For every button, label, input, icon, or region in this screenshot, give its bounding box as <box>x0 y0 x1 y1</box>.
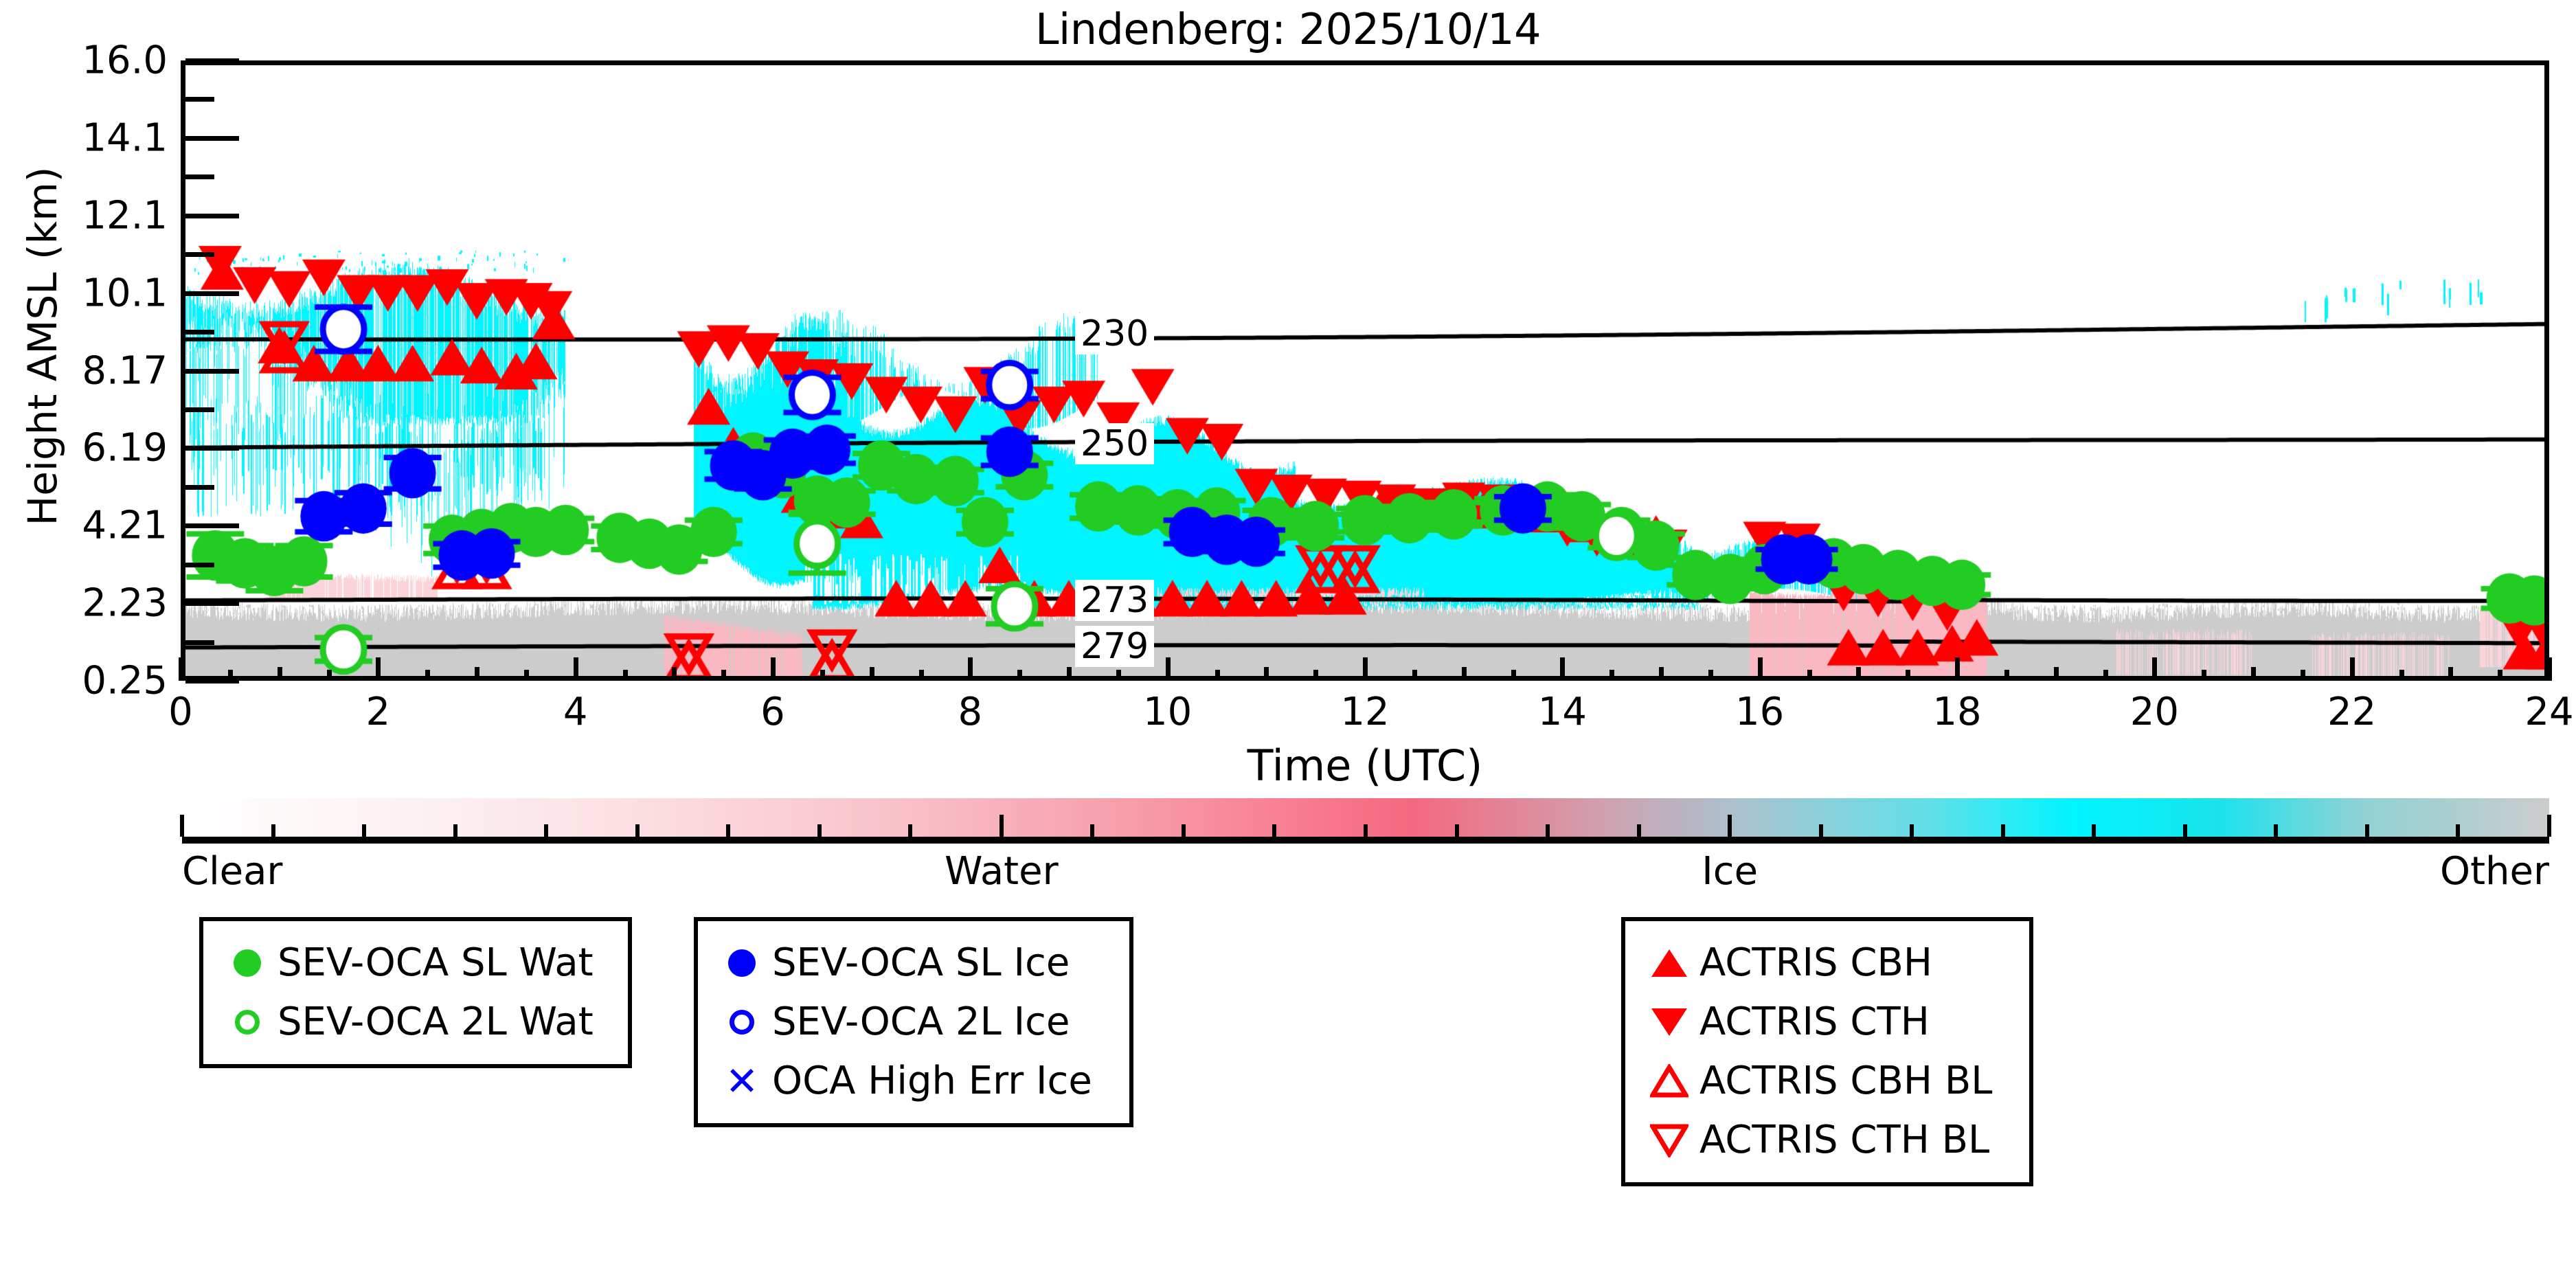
y-tick-label: 0.25 <box>82 659 168 703</box>
colorbar-tick <box>2365 824 2369 837</box>
x-minor-tick-mark <box>870 667 874 681</box>
y-minor-tick-mark <box>185 485 214 490</box>
y-tick-mark <box>185 523 239 528</box>
legend-item-label: SEV-OCA 2L Ice <box>772 1003 1070 1041</box>
x-tick-label: 2 <box>366 690 391 734</box>
legend-item-label: OCA High Err Ice <box>772 1062 1092 1100</box>
x-tick-mark <box>1560 657 1565 681</box>
colorbar-tick <box>1728 815 1732 837</box>
y-tick-label: 2.23 <box>82 581 168 626</box>
x-tick-label: 10 <box>1143 690 1192 734</box>
x-minor-tick-mark <box>1708 670 1713 681</box>
x-minor-tick-mark <box>1264 667 1269 681</box>
x-minor-tick-mark <box>2399 670 2404 681</box>
legend-item[interactable]: ACTRIS CBH <box>1639 934 2011 993</box>
y-minor-tick-mark <box>185 252 214 257</box>
water-legend: SEV-OCA SL WatSEV-OCA 2L Wat <box>199 917 632 1068</box>
x-tick-label: 0 <box>168 690 193 734</box>
open-triangle-down-icon <box>1639 1123 1699 1157</box>
colorbar-tick <box>1272 824 1276 837</box>
x-minor-tick-mark <box>2301 670 2305 681</box>
x-minor-tick-mark <box>1807 670 1812 681</box>
colorbar-label: Clear <box>182 849 282 894</box>
colorbar-tick <box>453 824 457 837</box>
colorbar-tick <box>635 824 640 837</box>
isotherm-label: 273 <box>1075 580 1154 621</box>
legend-item[interactable]: ACTRIS CBH BL <box>1639 1052 2011 1111</box>
legend-item[interactable]: ACTRIS CTH BL <box>1639 1111 2011 1170</box>
plot-area <box>181 60 2549 681</box>
filled-circle-icon <box>217 949 278 977</box>
x-tick-mark <box>1363 657 1368 681</box>
legend-item[interactable]: ACTRIS CTH <box>1639 993 2011 1052</box>
filled-triangle-down-icon <box>1639 1008 1699 1036</box>
x-tick-mark <box>2350 657 2355 681</box>
legend-item-label: ACTRIS CTH BL <box>1699 1121 1989 1160</box>
y-tick-mark <box>185 446 239 451</box>
x-minor-tick-mark <box>1511 670 1516 681</box>
x-tick-label: 14 <box>1538 690 1587 734</box>
colorbar-tick <box>2274 824 2278 837</box>
y-tick-label: 8.17 <box>82 348 168 393</box>
y-tick-label: 6.19 <box>82 426 168 471</box>
y-tick-mark <box>185 601 239 606</box>
colorbar-tick <box>271 824 275 837</box>
x-tick-label: 6 <box>760 690 785 734</box>
x-minor-tick-mark <box>820 670 825 681</box>
open-triangle-up-icon <box>1639 1064 1699 1098</box>
legend-item[interactable]: SEV-OCA SL Wat <box>217 934 610 993</box>
legend-item[interactable]: SEV-OCA SL Ice <box>712 934 1111 993</box>
y-minor-tick-mark <box>185 563 214 567</box>
legend-item[interactable]: SEV-OCA 2L Wat <box>217 993 610 1052</box>
x-minor-tick-mark <box>1462 667 1467 681</box>
colorbar-tick <box>1182 824 1186 837</box>
colorbar-tick <box>1819 824 1823 837</box>
x-minor-tick-mark <box>1609 670 1614 681</box>
colorbar-tick <box>2001 824 2005 837</box>
x-tick-mark <box>574 657 578 681</box>
y-axis-ticks: 16.014.112.110.18.176.194.212.230.25 <box>0 0 179 742</box>
y-tick-label: 14.1 <box>82 115 168 160</box>
page-title: Lindenberg: 2025/10/14 <box>0 4 2576 54</box>
x-minor-tick-mark <box>475 667 479 681</box>
colorbar-label: Water <box>945 849 1059 894</box>
x-minor-tick-mark <box>1067 667 1072 681</box>
filled-circle-icon <box>712 949 772 977</box>
y-tick-label: 16.0 <box>82 38 168 83</box>
cross-icon: ✕ <box>712 1061 772 1101</box>
isotherm-label: 279 <box>1075 626 1154 667</box>
y-tick-mark <box>185 369 239 374</box>
legend-item-label: SEV-OCA SL Ice <box>772 944 1070 982</box>
colorbar-tick <box>2456 824 2460 837</box>
y-minor-tick-mark <box>185 330 214 335</box>
filled-triangle-up-icon <box>1639 949 1699 977</box>
x-tick-mark <box>1758 657 1763 681</box>
y-tick-mark <box>185 679 239 683</box>
x-tick-mark <box>771 657 776 681</box>
x-tick-mark <box>968 657 973 681</box>
x-tick-mark <box>179 657 183 681</box>
colorbar-tick <box>726 824 730 837</box>
y-tick-label: 4.21 <box>82 504 168 548</box>
x-minor-tick-mark <box>1412 670 1417 681</box>
colorbar-tick <box>2092 824 2096 837</box>
y-tick-mark <box>185 214 239 218</box>
colorbar-tick <box>1455 824 1459 837</box>
colorbar-tick <box>2547 815 2551 837</box>
isotherm-label: 230 <box>1075 313 1154 354</box>
x-tick-mark <box>376 657 381 681</box>
x-tick-mark <box>2547 657 2552 681</box>
x-tick-label: 4 <box>563 690 588 734</box>
x-minor-tick-mark <box>1659 667 1664 681</box>
x-minor-tick-mark <box>672 667 677 681</box>
x-tick-label: 20 <box>2130 690 2179 734</box>
colorbar-tick <box>1090 824 1094 837</box>
legend-item[interactable]: SEV-OCA 2L Ice <box>712 993 1111 1052</box>
colorbar-tick <box>2183 824 2187 837</box>
x-minor-tick-mark <box>2004 670 2009 681</box>
colorbar-tick <box>999 815 1004 837</box>
y-minor-tick-mark <box>185 174 214 179</box>
x-tick-mark <box>1166 657 1171 681</box>
x-minor-tick-mark <box>1116 670 1121 681</box>
y-tick-mark <box>185 291 239 296</box>
y-minor-tick-mark <box>185 407 214 412</box>
x-tick-label: 12 <box>1340 690 1389 734</box>
x-minor-tick-mark <box>278 667 282 681</box>
x-minor-tick-mark <box>1906 670 1910 681</box>
x-minor-tick-mark <box>2498 670 2502 681</box>
x-axis-title: Time (UTC) <box>181 741 2549 791</box>
x-minor-tick-mark <box>1017 670 1022 681</box>
x-minor-tick-mark <box>2251 667 2256 681</box>
y-tick-mark <box>185 136 239 141</box>
x-minor-tick-mark <box>327 670 332 681</box>
x-minor-tick-mark <box>623 670 628 681</box>
actris-legend: ACTRIS CBHACTRIS CTHACTRIS CBH BLACTRIS … <box>1621 917 2033 1186</box>
colorbar-tick <box>1910 824 1914 837</box>
y-minor-tick-mark <box>185 97 214 102</box>
legend-item[interactable]: ✕OCA High Err Ice <box>712 1052 1111 1111</box>
legend-item-label: SEV-OCA 2L Wat <box>278 1003 594 1041</box>
colorbar-label: Ice <box>1702 849 1758 894</box>
x-minor-tick-mark <box>2054 667 2059 681</box>
x-tick-label: 16 <box>1735 690 1784 734</box>
colorbar-tick <box>908 824 912 837</box>
colorbar-tick <box>544 824 548 837</box>
x-tick-mark <box>1955 657 1960 681</box>
colorbar-label: Other <box>2440 849 2549 894</box>
x-minor-tick-mark <box>721 670 726 681</box>
y-tick-mark <box>185 58 239 63</box>
x-minor-tick-mark <box>425 670 430 681</box>
colorbar-tick <box>180 815 184 837</box>
open-circle-icon <box>217 1010 278 1035</box>
x-minor-tick-mark <box>2202 670 2206 681</box>
open-circle-icon <box>712 1010 772 1035</box>
legend-item-label: ACTRIS CBH <box>1699 944 1932 982</box>
colorbar-tick <box>1637 824 1641 837</box>
x-tick-label: 24 <box>2524 690 2573 734</box>
colorbar-tick <box>817 824 822 837</box>
isotherm-label: 250 <box>1075 423 1154 464</box>
legend-item-label: SEV-OCA SL Wat <box>278 944 594 982</box>
x-minor-tick-mark <box>2448 667 2453 681</box>
axes-frame <box>181 60 2549 681</box>
x-tick-label: 18 <box>1932 690 1981 734</box>
x-minor-tick-mark <box>2103 670 2108 681</box>
colorbar-tick <box>1546 824 1550 837</box>
ice-legend: SEV-OCA SL IceSEV-OCA 2L Ice✕OCA High Er… <box>694 917 1133 1127</box>
x-tick-mark <box>2152 657 2157 681</box>
colorbar-axis-line <box>182 837 2549 844</box>
colorbar-tick <box>1364 824 1368 837</box>
x-minor-tick-mark <box>1856 667 1861 681</box>
y-tick-label: 12.1 <box>82 193 168 238</box>
colorbar-tick <box>362 824 366 837</box>
y-minor-tick-mark <box>185 640 214 645</box>
x-minor-tick-mark <box>524 670 529 681</box>
x-tick-label: 8 <box>958 690 983 734</box>
legend-item-label: ACTRIS CTH <box>1699 1003 1930 1041</box>
y-tick-label: 10.1 <box>82 271 168 315</box>
x-minor-tick-mark <box>1313 670 1318 681</box>
x-minor-tick-mark <box>919 670 924 681</box>
x-tick-label: 22 <box>2327 690 2376 734</box>
legend-item-label: ACTRIS CBH BL <box>1699 1062 1992 1100</box>
x-minor-tick-mark <box>1215 670 1220 681</box>
